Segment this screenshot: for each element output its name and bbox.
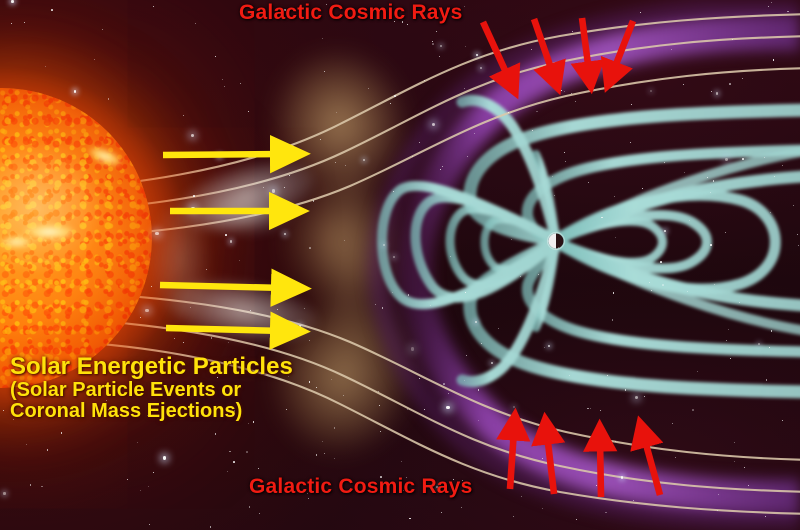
arrow (600, 441, 601, 497)
solar-wind-arrows (160, 154, 285, 331)
arrow (160, 285, 285, 288)
arrow (582, 18, 589, 72)
sep-line-3: Coronal Mass Ejections) (10, 401, 293, 422)
label-galactic-cosmic-rays-top: Galactic Cosmic Rays (239, 1, 462, 25)
sep-line-1: Solar Energetic Particles (10, 355, 293, 380)
label-galactic-cosmic-rays-bottom: Galactic Cosmic Rays (249, 475, 472, 499)
space-weather-diagram: Galactic Cosmic Rays Galactic Cosmic Ray… (0, 0, 800, 530)
arrow (644, 437, 660, 495)
arrow (510, 430, 514, 489)
arrow (547, 434, 554, 494)
sep-line-2: (Solar Particle Events or (10, 380, 293, 401)
arrow (483, 22, 509, 79)
arrow (163, 154, 284, 155)
cosmic-ray-arrows-bottom (510, 430, 660, 497)
label-solar-energetic-particles: Solar Energetic Particles (Solar Particl… (10, 355, 293, 422)
arrow (166, 328, 284, 331)
cosmic-ray-arrows-top (483, 18, 633, 79)
arrow (534, 19, 553, 74)
arrow (613, 21, 633, 72)
arrow-overlay (0, 0, 800, 530)
